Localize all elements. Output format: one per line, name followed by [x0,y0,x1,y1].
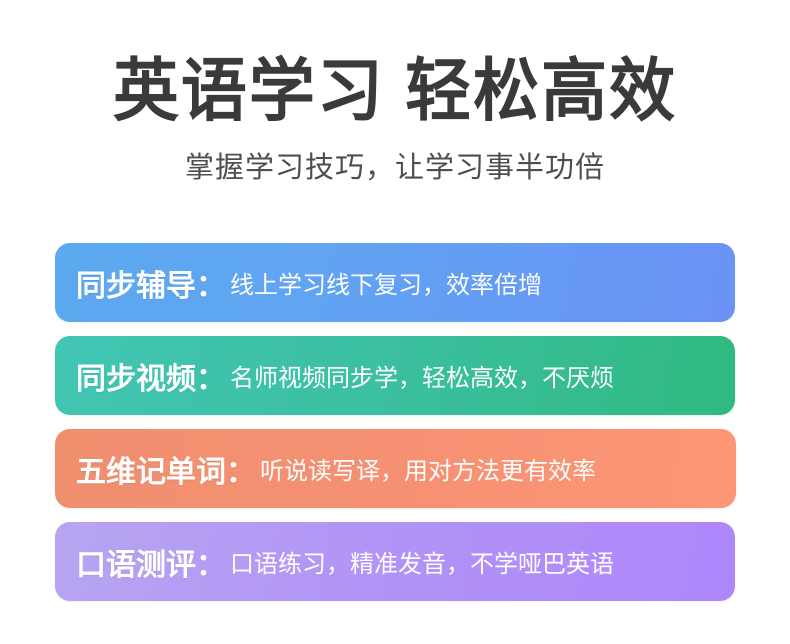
feature-card-label: 口语测评： [76,540,226,584]
feature-card-description: 口语练习，精准发音，不学哑巴英语 [230,544,614,580]
feature-card-synchronized-video[interactable]: 同步视频： 名师视频同步学，轻松高效，不厌烦 [55,336,735,415]
feature-card-five-dimension-vocabulary[interactable]: 五维记单词： 听说读写译，用对方法更有效率 [55,429,736,508]
page-title: 英语学习 轻松高效 [0,54,790,128]
feature-card-label: 同步辅导： [76,261,226,305]
feature-card-synchronized-tutoring[interactable]: 同步辅导： 线上学习线下复习，效率倍增 [55,243,735,322]
page-subtitle: 掌握学习技巧，让学习事半功倍 [0,151,790,186]
feature-card-list: 同步辅导： 线上学习线下复习，效率倍增 同步视频： 名师视频同步学，轻松高效，不… [55,243,735,601]
poster-header: 英语学习 轻松高效 掌握学习技巧，让学习事半功倍 [0,0,790,186]
feature-card-description: 线上学习线下复习，效率倍增 [230,265,542,301]
feature-card-label: 五维记单词： [76,447,256,491]
feature-card-description: 名师视频同步学，轻松高效，不厌烦 [230,358,614,394]
feature-card-spoken-assessment[interactable]: 口语测评： 口语练习，精准发音，不学哑巴英语 [55,522,735,601]
feature-card-label: 同步视频： [76,354,226,398]
feature-card-description: 听说读写译，用对方法更有效率 [260,451,596,487]
promo-poster: 英语学习 轻松高效 掌握学习技巧，让学习事半功倍 同步辅导： 线上学习线下复习，… [0,0,790,644]
